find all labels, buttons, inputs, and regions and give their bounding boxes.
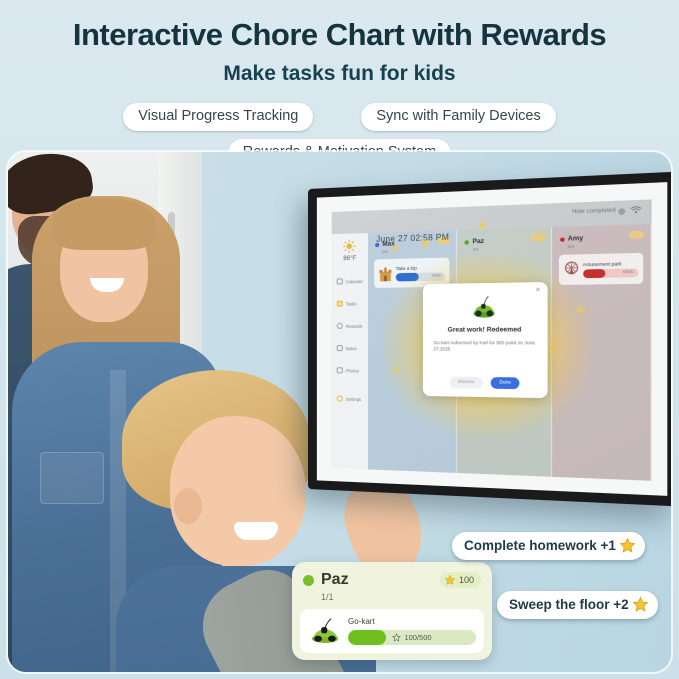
paz-summary-card[interactable]: Paz 100 1/1 Go-kart bbox=[292, 562, 492, 660]
paz-progress-label: 100/500 bbox=[404, 633, 431, 642]
sidebar-item-label: Tasks bbox=[346, 301, 357, 306]
paz-name: Paz bbox=[321, 571, 349, 589]
sidebar-item-notes[interactable]: Notes bbox=[337, 341, 368, 355]
column-progress: 0/1 bbox=[382, 249, 388, 254]
star-icon bbox=[632, 596, 649, 613]
dialog-actions: Dismiss Done bbox=[423, 376, 548, 389]
close-icon[interactable]: ✕ bbox=[535, 286, 541, 294]
done-button[interactable]: Done bbox=[491, 377, 520, 389]
note-icon bbox=[337, 345, 343, 351]
sparkle-icon: ✦ bbox=[576, 306, 586, 317]
sun-icon bbox=[343, 240, 356, 254]
sidebar-item-label: Rewards bbox=[346, 323, 363, 328]
mother-shirt-pocket bbox=[40, 452, 104, 504]
paz-progress-label-group: 100/500 bbox=[348, 630, 476, 645]
task-card[interactable]: Amusement park 0/500 bbox=[559, 253, 644, 285]
sidebar-item-label: Photos bbox=[346, 368, 359, 373]
weather-temperature: 86°F bbox=[332, 255, 368, 262]
sparkle-icon: ✦ bbox=[549, 343, 558, 353]
task-name: Take a trip bbox=[396, 264, 446, 270]
column-name: Amy bbox=[568, 235, 583, 243]
sparkle-icon: ✦ bbox=[478, 221, 488, 233]
feature-pill-sync-devices[interactable]: Sync with Family Devices bbox=[361, 103, 555, 131]
task-progress-bar: 0/500 bbox=[583, 268, 639, 278]
paz-task-name: Go-kart bbox=[348, 617, 476, 626]
sparkle-icon: ✦ bbox=[391, 244, 399, 253]
task-name: Amusement park bbox=[583, 260, 639, 267]
sidebar-item-label: Calendar bbox=[346, 278, 363, 283]
column-name: Paz bbox=[472, 238, 484, 246]
sidebar-item-tasks[interactable]: Tasks bbox=[337, 296, 368, 311]
star-icon bbox=[619, 537, 636, 554]
feature-pill-visual-progress[interactable]: Visual Progress Tracking bbox=[123, 103, 313, 131]
column-header: Amy bbox=[560, 235, 583, 243]
child-ear bbox=[174, 488, 202, 524]
paz-progress-bar: 100/500 bbox=[348, 630, 476, 645]
photo-icon bbox=[337, 367, 343, 373]
callout-complete-homework[interactable]: Complete homework +1 bbox=[452, 532, 645, 560]
task-body: Amusement park 0/500 bbox=[583, 260, 639, 278]
mother-hair-front bbox=[52, 198, 156, 250]
wifi-icon bbox=[630, 205, 642, 214]
page-subtitle: Make tasks fun for kids bbox=[0, 50, 679, 86]
feature-pill-row-1: Visual Progress Tracking Sync with Famil… bbox=[0, 103, 679, 131]
sidebar-item-photos[interactable]: Photos bbox=[337, 363, 368, 377]
person-column-amy[interactable]: Amy 0/1 Am bbox=[552, 224, 652, 481]
paz-task-row[interactable]: Go-kart 100/500 bbox=[300, 609, 484, 653]
paz-task-body: Go-kart 100/500 bbox=[348, 617, 476, 645]
dismiss-button[interactable]: Dismiss bbox=[449, 376, 483, 388]
sidebar-item-settings[interactable]: Settings bbox=[337, 391, 368, 406]
star-icon bbox=[337, 301, 343, 307]
task-points: 0/500 bbox=[623, 269, 634, 274]
paz-identity: Paz bbox=[303, 571, 349, 589]
app-sidebar[interactable]: 86°F Calendar Tasks Rewards Notes bbox=[332, 233, 368, 469]
callout-sweep-floor[interactable]: Sweep the floor +2 bbox=[497, 591, 658, 619]
go-kart-icon bbox=[308, 617, 342, 645]
hide-completed-label[interactable]: Hide completed bbox=[572, 207, 616, 215]
hero-photo-panel: Hide completed bbox=[8, 152, 671, 672]
sparkle-icon: ✦ bbox=[420, 237, 431, 250]
page-header: Interactive Chore Chart with Rewards Mak… bbox=[0, 0, 679, 168]
task-progress-fill bbox=[583, 268, 605, 277]
task-body: Take a trip 0/300 bbox=[396, 264, 446, 281]
star-icon bbox=[444, 574, 456, 586]
reward-redeemed-dialog[interactable]: ✕ Great work! Redeemed Go-kart redeemed … bbox=[423, 282, 548, 398]
dialog-body: Go-kart redeemed by Karl for 500 point o… bbox=[433, 340, 536, 354]
dialog-title: Great work! Redeemed bbox=[433, 326, 536, 334]
column-points-badge bbox=[629, 231, 645, 239]
paz-points-badge: 100 bbox=[440, 572, 481, 588]
task-progress-bar: 0/300 bbox=[396, 272, 446, 281]
go-kart-icon bbox=[433, 292, 536, 323]
callout-text: Complete homework +1 bbox=[464, 538, 616, 553]
toggle-icon[interactable] bbox=[618, 208, 625, 215]
sparkle-icon: ✦ bbox=[393, 366, 400, 374]
online-dot-icon bbox=[303, 575, 314, 586]
column-progress: 0/1 bbox=[568, 244, 574, 250]
sparkle-icon: ✦ bbox=[540, 231, 548, 240]
star-outline-icon bbox=[392, 633, 401, 642]
sidebar-item-label: Notes bbox=[346, 346, 357, 351]
status-dot bbox=[560, 237, 565, 241]
calendar-icon bbox=[337, 278, 343, 284]
sidebar-item-rewards[interactable]: Rewards bbox=[337, 319, 368, 333]
gear-icon bbox=[337, 396, 343, 402]
page-title: Interactive Chore Chart with Rewards bbox=[0, 0, 679, 50]
status-dot bbox=[465, 240, 469, 244]
wall-mounted-display[interactable]: Hide completed bbox=[308, 172, 671, 507]
column-header: Paz bbox=[465, 238, 484, 246]
callout-text: Sweep the floor +2 bbox=[509, 597, 629, 612]
paz-progress: 1/1 bbox=[321, 592, 481, 602]
display-screen[interactable]: Hide completed bbox=[332, 199, 652, 480]
sidebar-item-label: Settings bbox=[346, 396, 361, 401]
paz-card-header: Paz 100 bbox=[303, 571, 481, 589]
child-smile bbox=[234, 522, 278, 540]
ferris-wheel-icon bbox=[563, 260, 579, 280]
sidebar-item-calendar[interactable]: Calendar bbox=[337, 274, 368, 289]
trophy-icon bbox=[337, 323, 343, 329]
task-points: 0/300 bbox=[432, 273, 442, 277]
column-progress: 1/1 bbox=[472, 246, 478, 251]
task-progress-fill bbox=[396, 272, 419, 281]
castle-icon bbox=[378, 264, 392, 283]
paz-points-value: 100 bbox=[459, 575, 474, 585]
